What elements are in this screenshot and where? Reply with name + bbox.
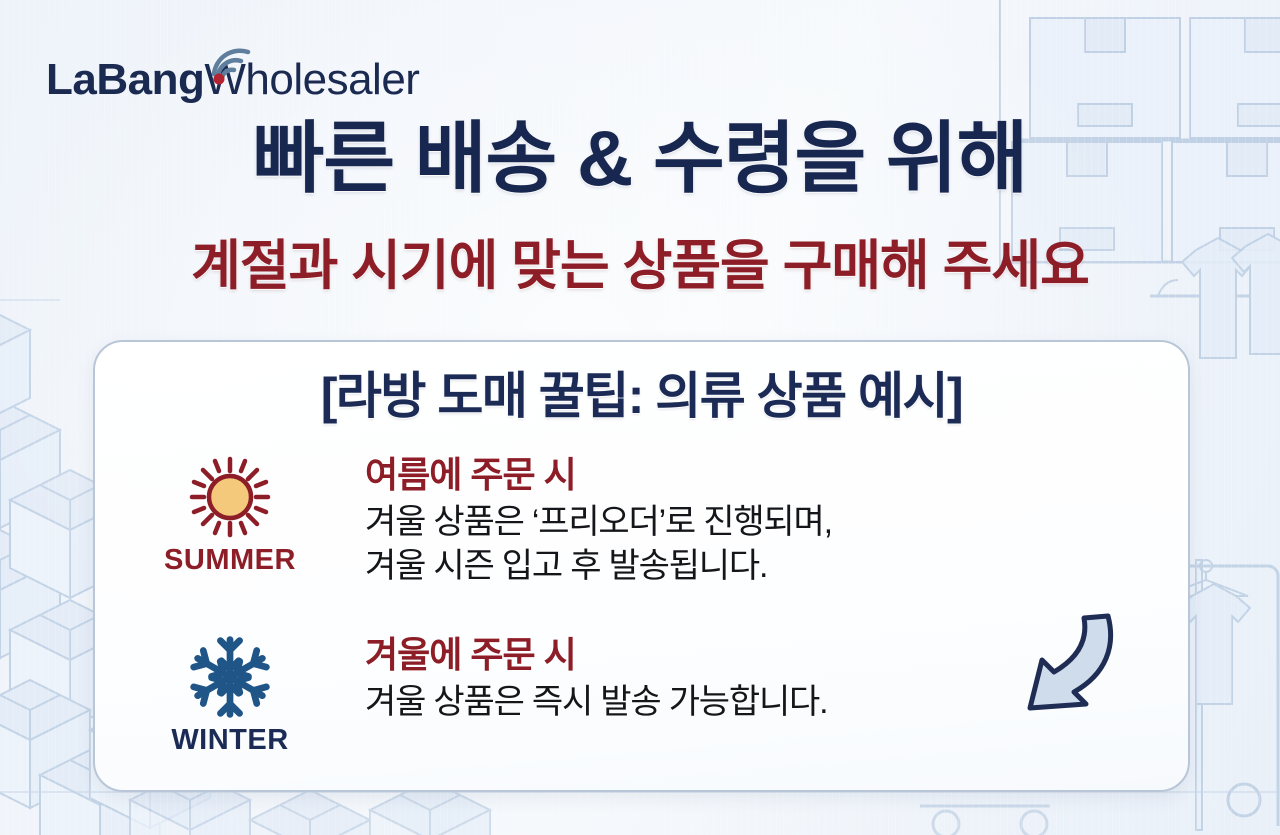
summer-icon-box	[182, 454, 278, 540]
sun-icon	[182, 449, 278, 545]
summer-icon-column: SUMMER	[95, 454, 365, 577]
page-title: 빠른 배송 & 수령을 위해	[0, 116, 1280, 200]
brand-logo: LaBangWholesaler	[46, 42, 419, 102]
page-subtitle: 계절과 시기에 맞는 상품을 구매해 주세요	[0, 236, 1280, 296]
summer-body-line-1: 겨울 상품은 ‘프리오더’로 진행되며,	[365, 500, 1148, 544]
wifi-icon	[206, 34, 268, 88]
summer-body-line-2: 겨울 시즌 입고 후 발송됩니다.	[365, 544, 1148, 588]
winter-icon-column: WINTER	[95, 634, 365, 757]
tip-card-title: [라방 도매 꿀팁: 의류 상품 예시]	[95, 368, 1188, 424]
winter-icon-box	[184, 634, 276, 720]
summer-text-column: 여름에 주문 시 겨울 상품은 ‘프리오더’로 진행되며, 겨울 시즌 입고 후…	[365, 454, 1188, 588]
summer-body: 겨울 상품은 ‘프리오더’로 진행되며, 겨울 시즌 입고 후 발송됩니다.	[365, 500, 1148, 588]
brand-name-bold: LaBang	[46, 55, 204, 104]
poster-canvas: LaBangWholesaler 빠른 배송 & 수령을 위해 계절과 시기에 …	[0, 0, 1280, 835]
curved-arrow-down-left-icon	[1012, 612, 1132, 722]
winter-icon-label: WINTER	[171, 724, 288, 757]
season-row-summer: SUMMER 여름에 주문 시 겨울 상품은 ‘프리오더’로 진행되며, 겨울 …	[95, 454, 1188, 588]
snowflake-icon	[184, 631, 276, 723]
summer-icon-label: SUMMER	[164, 544, 296, 577]
wifi-dot-icon	[214, 74, 225, 85]
tip-card: [라방 도매 꿀팁: 의류 상품 예시]	[93, 340, 1190, 792]
summer-heading: 여름에 주문 시	[365, 454, 1148, 496]
